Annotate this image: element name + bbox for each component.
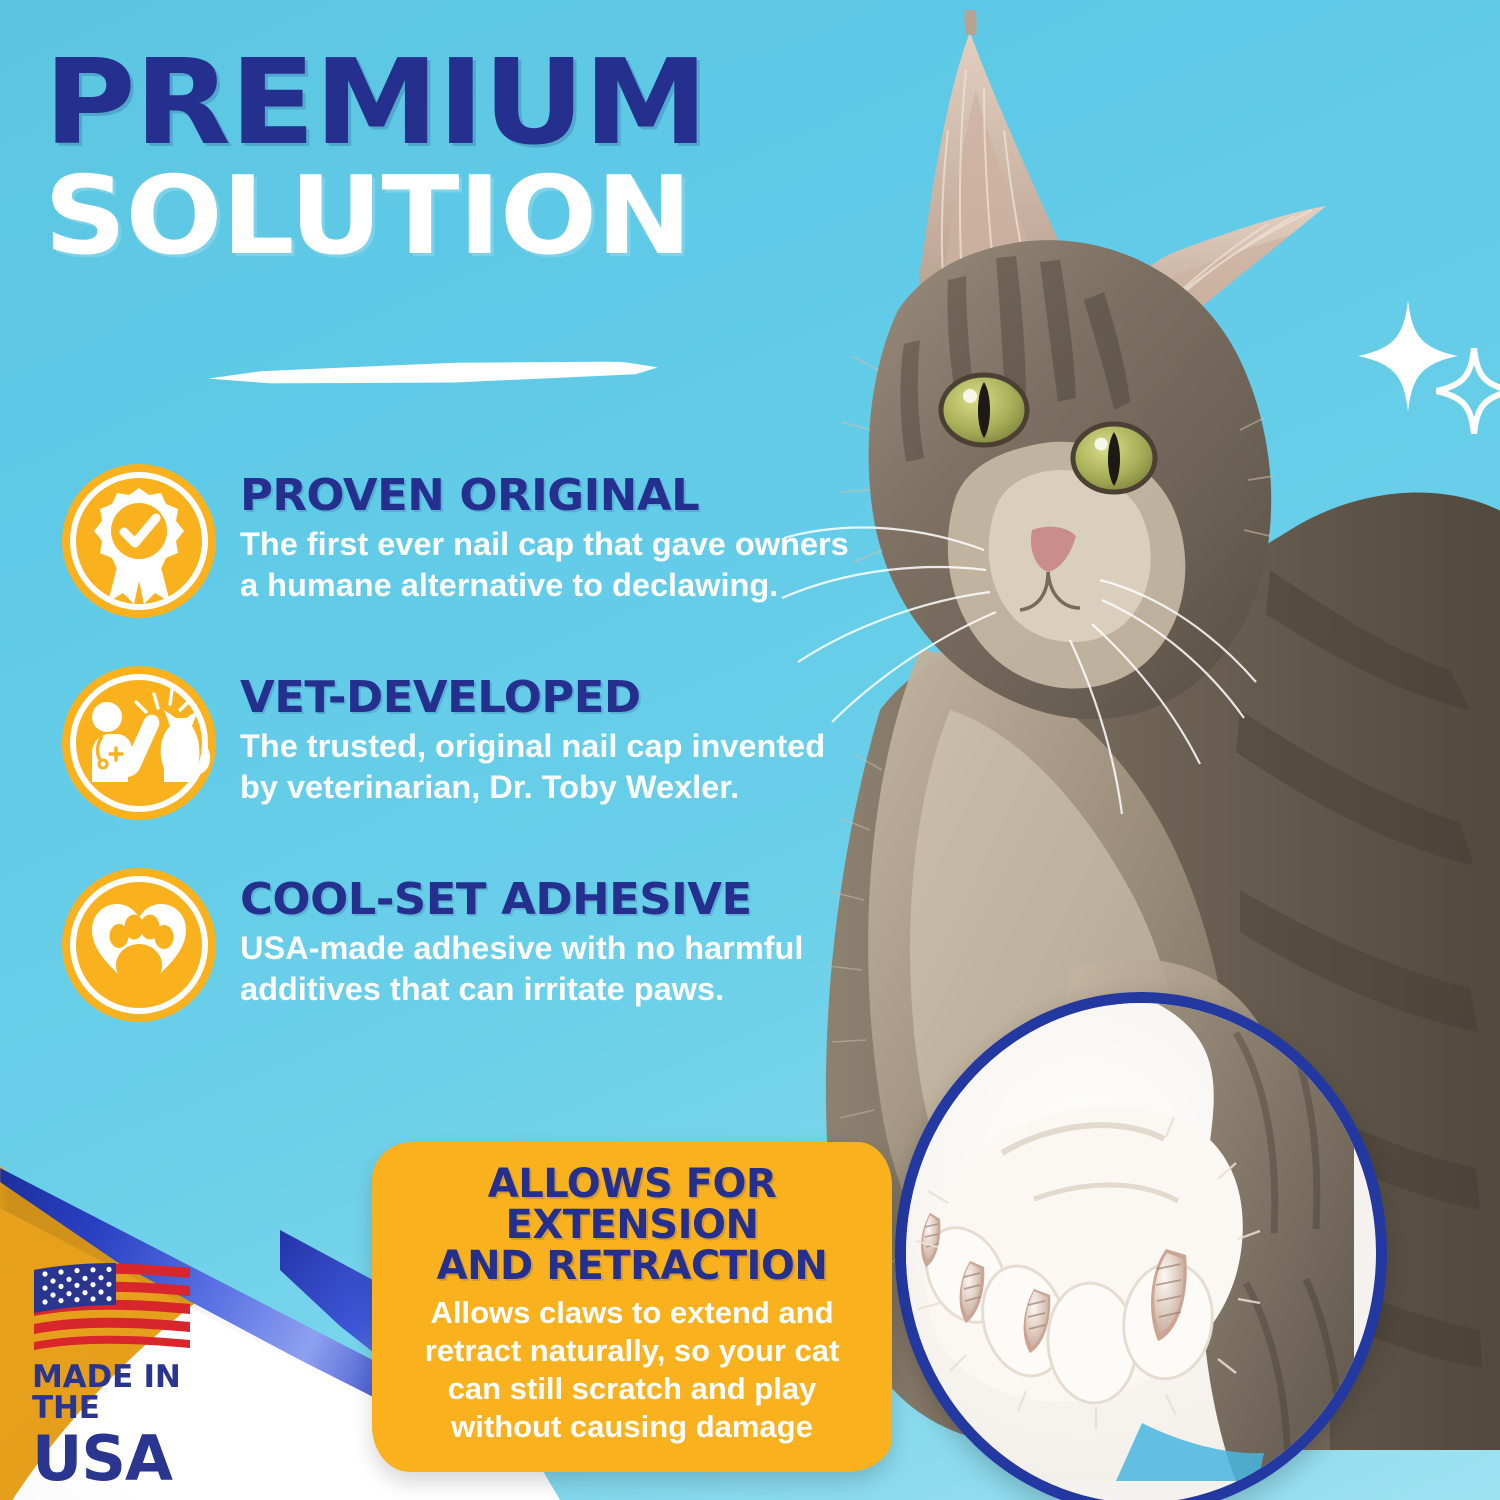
feature-title: PROVEN ORIGINAL: [240, 474, 872, 518]
callout-box: ALLOWS FOR EXTENSION AND RETRACTION Allo…: [372, 1142, 892, 1472]
headline-line1: PREMIUM: [44, 48, 913, 157]
usa-flag-icon: [30, 1258, 200, 1350]
callout-title-line1: ALLOWS FOR EXTENSION: [488, 1161, 777, 1248]
headline-block: PREMIUM SOLUTION: [44, 48, 864, 266]
feature-title: COOL-SET ADHESIVE: [240, 878, 872, 922]
callout-title-line2: AND RETRACTION: [437, 1243, 828, 1289]
vet-highfive-cat-icon: [60, 664, 218, 822]
sparkle-outline-icon: [1436, 348, 1500, 434]
heart-paw-icon: [60, 866, 218, 1024]
usa-badge-line1: MADE IN THE: [32, 1362, 250, 1424]
cat-paw-with-nail-caps-photo: [906, 1003, 1354, 1481]
feature-text: PROVEN ORIGINAL The first ever nail cap …: [240, 462, 860, 606]
feature-item: COOL-SET ADHESIVE USA-made adhesive with…: [60, 866, 860, 1024]
feature-text: VET-DEVELOPED The trusted, original nail…: [240, 664, 860, 808]
feature-description: The first ever nail cap that gave owners…: [240, 524, 860, 606]
feature-item: VET-DEVELOPED The trusted, original nail…: [60, 664, 860, 822]
feature-title: VET-DEVELOPED: [240, 676, 872, 720]
cat-paw-closeup-inset: [895, 992, 1387, 1500]
callout-title: ALLOWS FOR EXTENSION AND RETRACTION: [396, 1164, 868, 1286]
feature-item: PROVEN ORIGINAL The first ever nail cap …: [60, 462, 860, 620]
feature-description: The trusted, original nail cap invented …: [240, 726, 860, 808]
award-ribbon-icon: [60, 462, 218, 620]
feature-description: USA-made adhesive with no harmful additi…: [240, 928, 860, 1010]
made-in-usa-badge: MADE IN THE USA: [30, 1258, 250, 1490]
feature-list: PROVEN ORIGINAL The first ever nail cap …: [60, 462, 860, 1068]
usa-badge-line2: USA: [32, 1428, 250, 1490]
feature-text: COOL-SET ADHESIVE USA-made adhesive with…: [240, 866, 860, 1010]
callout-description: Allows claws to extend and retract natur…: [396, 1294, 868, 1445]
headline-line2: SOLUTION: [44, 167, 913, 266]
product-infographic: PREMIUM SOLUTION: [0, 0, 1500, 1500]
